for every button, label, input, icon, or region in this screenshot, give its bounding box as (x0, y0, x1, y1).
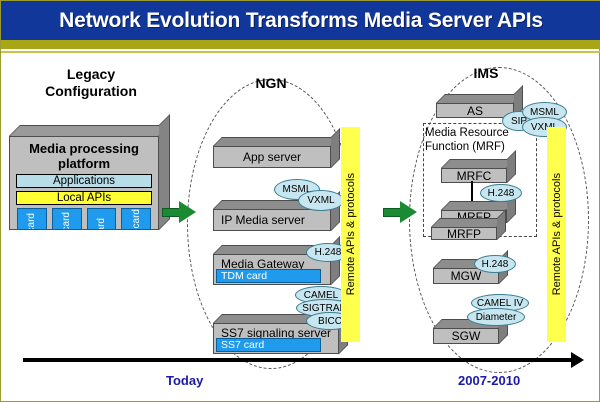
ims-remote-apis-band: Remote APIs & protocols (547, 127, 566, 342)
arrow-head (400, 201, 417, 223)
card-ip: IP card (87, 208, 117, 230)
timeline-arrow-head (571, 352, 584, 368)
ims-mrfp-box-lower: MRFP (431, 218, 497, 240)
platform-title: Media processing platform (16, 141, 152, 171)
card-ss7-label: SS7 card (26, 213, 37, 230)
ims-mrfc-box: MRFC (441, 159, 507, 183)
hardware-cards-row: SS7 card TDM card IP card media card (16, 208, 152, 230)
bubble-vxml-ngn: VXML (298, 190, 344, 211)
card-tdm: TDM card (52, 208, 82, 230)
gold-divider-line (1, 51, 600, 53)
local-apis-layer: Local APIs (16, 191, 152, 205)
box-front-face: MRFP (431, 227, 497, 240)
arrow-head (179, 201, 196, 223)
legacy-media-platform-box: Media processing platform Applications L… (9, 125, 159, 230)
ngn-app-server-box: App server (213, 137, 331, 168)
ngn-media-gateway-tdm-card: TDM card (216, 269, 321, 283)
card-ss7: SS7 card (17, 208, 47, 230)
box-top-face (9, 125, 170, 136)
ims-remote-apis-band-label: Remote APIs & protocols (551, 173, 563, 295)
timeline-axis (23, 358, 577, 362)
timeline-label-future: 2007-2010 (458, 373, 520, 388)
ngn-ss7-server-ss7-card: SS7 card (216, 338, 321, 352)
card-tdm-label: TDM card (61, 212, 72, 230)
box-front-face: AS (436, 103, 514, 118)
box-front-face: IP Media server (213, 209, 331, 231)
timeline-label-today: Today (166, 373, 203, 388)
ngn-remote-apis-band: Remote APIs & protocols (341, 127, 360, 342)
applications-layer: Applications (16, 174, 152, 188)
card-ip-label: IP card (96, 218, 107, 230)
ngn-section-heading: NGN (226, 75, 316, 92)
gold-divider-band (1, 40, 600, 49)
legacy-section-heading: Legacy Configuration (21, 66, 161, 100)
card-media: media card (121, 208, 151, 230)
bubble-h248-mrf-ims: H.248 (480, 184, 522, 202)
page-title: Network Evolution Transforms Media Serve… (1, 1, 600, 40)
bubble-h248-mgw-ims: H.248 (474, 255, 516, 273)
evolution-arrow-ngn-to-ims (383, 201, 417, 223)
box-top-face (436, 94, 523, 103)
box-top-face (213, 137, 340, 146)
ngn-remote-apis-band-label: Remote APIs & protocols (345, 173, 357, 295)
bubble-diameter-ims: Diameter (467, 308, 525, 326)
box-front-face: SGW (433, 328, 499, 344)
box-front-face: MRFC (441, 168, 507, 183)
ims-as-box: AS (436, 94, 514, 118)
box-top-face (431, 218, 506, 227)
mrfc-mrfp-connector (471, 181, 473, 202)
slide-canvas: Network Evolution Transforms Media Serve… (0, 0, 600, 402)
box-top-face (441, 159, 516, 168)
box-front-face: App server (213, 146, 331, 168)
evolution-arrow-legacy-to-ngn (162, 201, 196, 223)
card-media-label: media card (131, 209, 142, 230)
box-front-face: Media processing platform Applications L… (9, 136, 159, 230)
ims-section-heading: IMS (441, 65, 531, 82)
